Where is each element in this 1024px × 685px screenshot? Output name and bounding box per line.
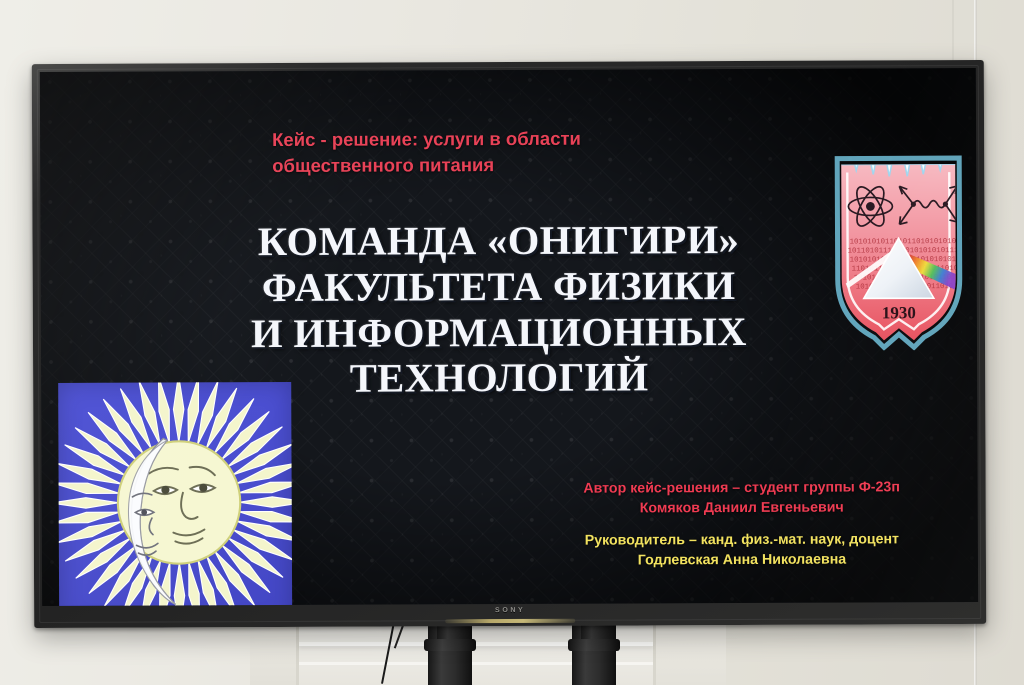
background-wall-panel-left — [250, 618, 298, 685]
stand-leg-right — [572, 621, 616, 685]
svg-text:101010101101011010101010101110: 101010101101011010101010101110 — [850, 238, 974, 247]
sun-and-moon-logo — [58, 382, 292, 606]
slide-subtitle-line-2: общественного питания — [272, 151, 742, 179]
emblem-year: 1930 — [882, 303, 916, 322]
stand-leg-left — [428, 621, 472, 685]
photo-scene: Кейс - решение: услуги в области обществ… — [0, 0, 1024, 685]
stand-leg-collar — [568, 639, 620, 651]
slide-subtitle-line-1: Кейс - решение: услуги в области — [272, 125, 742, 153]
slide-credits: Автор кейс-решения – студент группы Ф-23… — [497, 478, 979, 584]
slide-subtitle: Кейс - решение: услуги в области обществ… — [272, 125, 742, 180]
credits-author-role: Автор кейс-решения – студент группы Ф-23… — [497, 478, 979, 500]
tv-brand-label: SONY — [495, 607, 525, 614]
television-display[interactable]: Кейс - решение: услуги в области обществ… — [32, 60, 986, 628]
tv-bottom-bezel: SONY — [34, 602, 986, 628]
credits-supervisor-name: Годлевская Анна Николаевна — [497, 550, 978, 572]
credits-supervisor-block: Руководитель – канд. физ.-мат. наук, доц… — [497, 530, 978, 572]
credits-supervisor-role: Руководитель – канд. физ.-мат. наук, доц… — [497, 530, 978, 552]
slide-title-line-3: И ИНФОРМАЦИОННЫХ — [149, 308, 849, 357]
slide-title-line-1: КОМАНДА «ОНИГИРИ» — [148, 217, 848, 266]
screen-surface: Кейс - решение: услуги в области обществ… — [40, 68, 978, 606]
background-wall-panel-right — [656, 618, 726, 685]
credits-author-block: Автор кейс-решения – студент группы Ф-23… — [497, 478, 979, 520]
faculty-emblem-shield: 101010101101011010101010101110 101101011… — [823, 128, 974, 351]
svg-text:1011010111001010101010111001: 1011010111001010101010111001 — [848, 247, 973, 256]
slide-title-line-2: ФАКУЛЬТЕТА ФИЗИКИ — [149, 262, 849, 311]
credits-author-name: Комяков Даниил Евгеньевич — [497, 498, 978, 520]
stand-leg-collar — [424, 639, 476, 651]
slide-title: КОМАНДА «ОНИГИРИ» ФАКУЛЬТЕТА ФИЗИКИ И ИН… — [148, 217, 849, 403]
tv-ir-sensor-strip — [445, 619, 575, 624]
